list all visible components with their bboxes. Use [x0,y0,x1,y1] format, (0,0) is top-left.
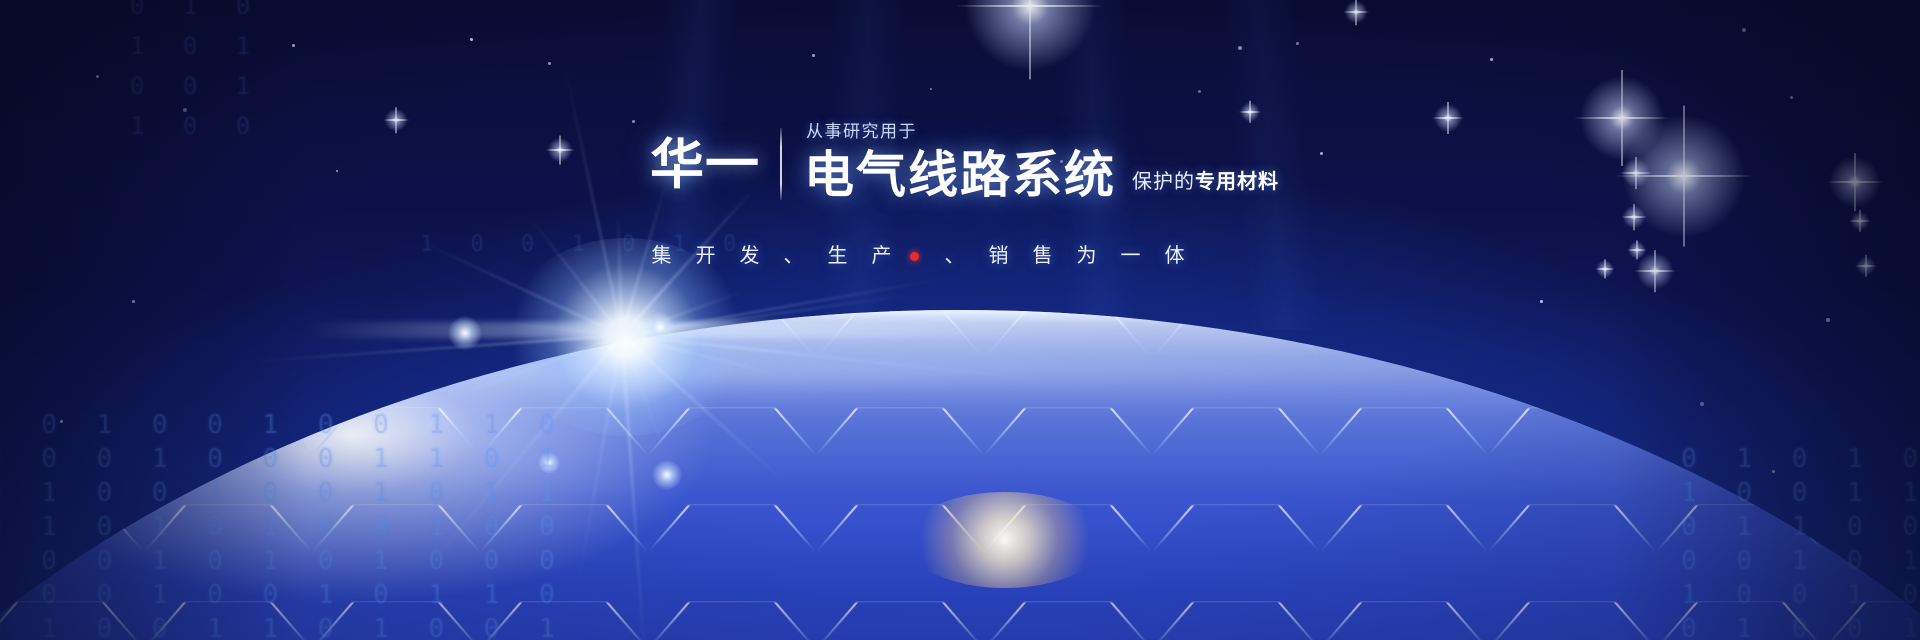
star-glint-icon [1432,102,1464,134]
star-glint-icon [383,107,409,133]
star-dot-icon [1490,58,1493,61]
hero-text-block: 华一 从事研究用于 电气线路系统 保护的专用材料 [650,120,1279,202]
star-dot-icon [1540,300,1543,303]
subtitle-char: 一 [1109,244,1153,268]
small-flare-d [538,452,560,474]
star-glint-icon [1634,250,1676,292]
small-flare-a [448,316,482,350]
star-glint-icon [956,0,1103,80]
headline-tagline: 保护的专用材料 [1132,171,1279,193]
star-dot-icon [548,62,551,65]
headline-main: 电气线路系统 [804,148,1116,202]
star-dot-icon [470,38,473,41]
tagline-strong: 专用材料 [1195,171,1279,193]
subtitle-char: 、 [772,244,816,268]
star-glint-icon [1849,210,1871,232]
star-dot-icon [1790,96,1793,99]
star-glint-icon [1855,255,1877,277]
brand-divider [780,128,782,200]
subtitle-char: 生 [816,244,860,268]
headline-column: 从事研究用于 电气线路系统 保护的专用材料 [804,120,1279,202]
accent-dot-icon [910,252,919,261]
star-dot-icon [632,120,635,123]
star-dot-icon [292,44,295,47]
star-dot-icon [183,108,187,112]
star-dot-icon [1296,42,1299,45]
star-dot-icon [1320,152,1323,155]
hero-banner: 0 1 0 1 0 1 0 0 1 1 0 0 1 0 0 1 0 1 0 [0,0,1920,640]
subtitle-char: 、 [933,244,977,268]
star-dot-icon [96,75,99,78]
headline-eyebrow: 从事研究用于 [806,122,1279,142]
headline-row: 华一 从事研究用于 电气线路系统 保护的专用材料 [650,120,1279,202]
hero-subtitle: 集开发、生产 、销售为一体 [640,244,1197,268]
subtitle-char: 发 [728,244,772,268]
star-dot-icon [1238,46,1242,50]
subtitle-char: 售 [1021,244,1065,268]
brand-logo: 华一 [650,120,760,194]
subtitle-before-dot: 集开发、生产 [640,244,904,268]
subtitle-char: 销 [977,244,1021,268]
star-dot-icon [1198,90,1201,93]
star-glint-icon [546,136,575,165]
subtitle-char: 开 [684,244,728,268]
lens-flare-streak [300,322,1060,338]
headline-main-line: 电气线路系统 保护的专用材料 [804,148,1279,202]
subtitle-char: 集 [640,244,684,268]
star-dot-icon [336,170,338,172]
star-glint-icon [1343,0,1369,25]
star-dot-icon [930,88,932,90]
star-dot-icon [132,300,135,303]
star-dot-icon [812,54,815,57]
star-glint-icon [1826,153,1884,211]
small-flare-c [652,460,682,490]
tagline-normal: 保护的 [1132,171,1195,193]
star-glint-icon [1595,259,1614,278]
star-glint-icon [1614,106,1755,247]
subtitle-after-dot: 、销售为一体 [933,244,1197,268]
small-flare-b [645,312,675,342]
subtitle-char: 体 [1153,244,1197,268]
subtitle-char: 为 [1065,244,1109,268]
star-dot-icon [1742,28,1746,32]
subtitle-char: 产 [860,244,904,268]
sun-hotspot [905,492,1105,588]
